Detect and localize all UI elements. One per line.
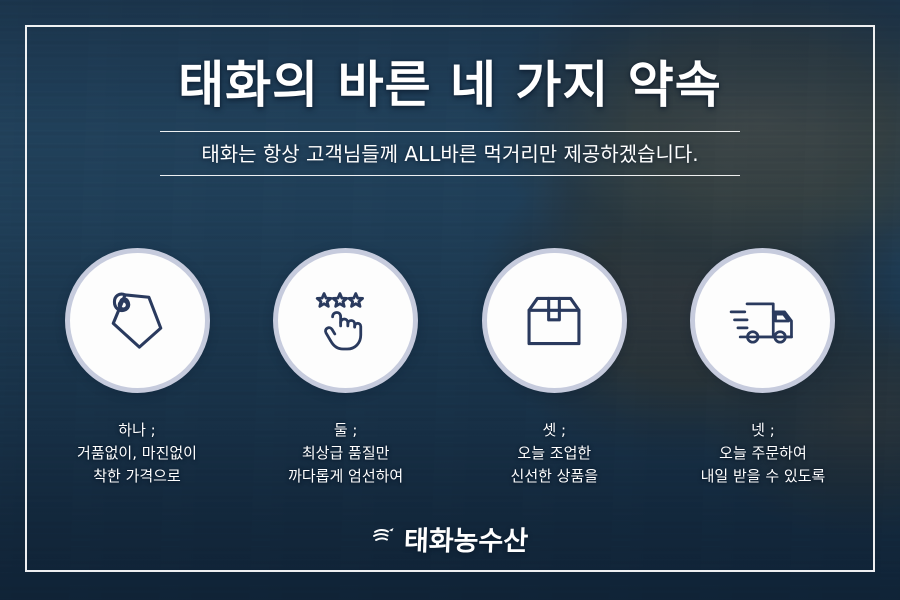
feature-icon-circle-delivery [690,248,835,393]
feature-item-delivery: 넷 ; 오늘 주문하여 내일 받을 수 있도록 [662,248,864,487]
feature-line2-4: 내일 받을 수 있도록 [701,465,826,488]
page-title: 태화의 바른 네 가지 약속 [0,58,900,113]
feature-line2-3: 신선한 상품을 [511,465,599,488]
promo-banner: 태화의 바른 네 가지 약속 태화는 항상 고객님들께 ALL바른 먹거리만 제… [0,0,900,600]
feature-number-2: 둘 ; [288,419,403,442]
divider-bottom [160,175,740,176]
logo-text: 태화농수산 [403,519,529,558]
subtitle-block: 태화는 항상 고객님들께 ALL바른 먹거리만 제공하겠습니다. [160,131,740,176]
feature-caption-delivery: 넷 ; 오늘 주문하여 내일 받을 수 있도록 [701,419,826,487]
header: 태화의 바른 네 가지 약속 태화는 항상 고객님들께 ALL바른 먹거리만 제… [0,58,900,176]
brand-logo: 태화농수산 [0,519,900,558]
feature-line1-3: 오늘 조업한 [511,442,599,465]
feature-item-freshness: 셋 ; 오늘 조업한 신선한 상품을 [453,248,655,487]
feature-line1-2: 최상급 품질만 [288,442,403,465]
feature-icon-circle-price [65,248,210,393]
feature-icon-circle-freshness [482,248,627,393]
feature-line2-2: 까다롭게 엄선하여 [288,465,403,488]
feature-number-1: 하나 ; [77,419,197,442]
price-tag-icon [99,283,175,359]
page-subtitle: 태화는 항상 고객님들께 ALL바른 먹거리만 제공하겠습니다. [160,132,740,175]
feature-caption-freshness: 셋 ; 오늘 조업한 신선한 상품을 [511,419,599,487]
fish-wave-mark-icon [372,525,398,553]
cardboard-box-icon [516,283,592,359]
feature-number-3: 셋 ; [511,419,599,442]
feature-line2-1: 착한 가격으로 [77,465,197,488]
feature-caption-price: 하나 ; 거품없이, 마진없이 착한 가격으로 [77,419,197,487]
three-stars-hand-pointer-icon [307,282,385,360]
feature-caption-quality: 둘 ; 최상급 품질만 까다롭게 엄선하여 [288,419,403,487]
feature-line1-4: 오늘 주문하여 [701,442,826,465]
feature-line1-1: 거품없이, 마진없이 [77,442,197,465]
delivery-truck-icon [722,280,804,362]
feature-list: 하나 ; 거품없이, 마진없이 착한 가격으로 [36,248,864,487]
feature-item-quality: 둘 ; 최상급 품질만 까다롭게 엄선하여 [245,248,447,487]
feature-item-price: 하나 ; 거품없이, 마진없이 착한 가격으로 [36,248,238,487]
feature-number-4: 넷 ; [701,419,826,442]
feature-icon-circle-quality [273,248,418,393]
